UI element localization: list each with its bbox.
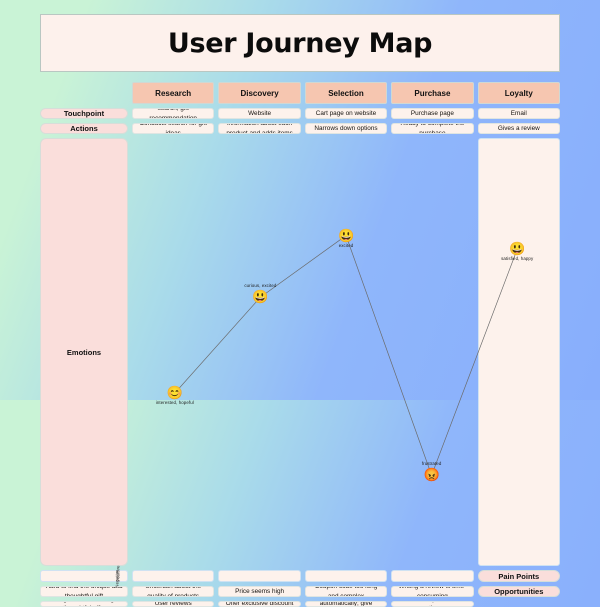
axis-label-negative: Negative <box>114 569 119 587</box>
cell-emotions-research <box>132 570 214 582</box>
column-header-discovery: Discovery <box>218 82 300 104</box>
row-label-emotions: Emotions <box>40 138 128 566</box>
title-panel: User Journey Map <box>40 14 560 72</box>
cell-actions-purchase: Ready to complete the purchase <box>391 123 473 134</box>
emotion-marker-angry-face: 😡 <box>424 467 440 483</box>
cell-opportunities-purchase: Apply coupon automatically; give instant… <box>305 601 387 607</box>
emotion-label-discovery: curious, excited <box>244 283 276 288</box>
emotion-marker-smiling-face: 😊 <box>167 385 183 401</box>
cell-actions-research: Conducts search for gift ideas <box>132 123 214 134</box>
cell-pain-points-loyalty: Writing a review is time-consuming <box>391 586 473 597</box>
journey-map-grid: Research Discovery Selection Purchase Lo… <box>40 82 560 387</box>
column-header-research: Research <box>132 82 214 104</box>
emotion-label-selection: excited <box>339 243 354 248</box>
page-title: User Journey Map <box>168 28 432 59</box>
column-header-selection: Selection <box>305 82 387 104</box>
cell-opportunities-loyalty: Give multiple choice options <box>391 601 473 607</box>
column-header-purchase: Purchase <box>391 82 473 104</box>
emotion-label-research: interested, hopeful <box>156 400 194 405</box>
cell-actions-loyalty: Gives a review <box>478 123 560 134</box>
cell-actions-selection: Narrows down options <box>305 123 387 134</box>
grid-corner-spacer <box>40 82 128 104</box>
cell-pain-points-discovery: Uncertain about the quality of products <box>132 586 214 597</box>
cell-touchpoint-discovery: Website <box>218 108 300 119</box>
cell-touchpoint-purchase: Purchase page <box>391 108 473 119</box>
cell-emotions-purchase <box>391 570 473 582</box>
cell-opportunities-research: Blogs recommending thoughtful gifts <box>40 601 128 607</box>
cell-opportunities-discovery: User reviews <box>132 601 214 607</box>
cell-emotions-selection <box>305 570 387 582</box>
row-label-touchpoint: Touchpoint <box>40 108 128 119</box>
cell-touchpoint-loyalty: Email <box>478 108 560 119</box>
cell-pain-points-selection: Price seems high <box>218 586 300 597</box>
emotion-marker-grinning-face-big-eyes: 😃 <box>252 289 268 305</box>
row-label-opportunities: Opportunities <box>478 586 560 597</box>
cell-pain-points-research: Hard to find the unique and thoughtful g… <box>40 586 128 597</box>
emotion-label-purchase: frustrated <box>422 461 442 466</box>
column-header-loyalty: Loyalty <box>478 82 560 104</box>
row-label-actions: Actions <box>40 123 128 134</box>
journey-map-canvas: User Journey Map Research Discovery Sele… <box>0 0 600 400</box>
cell-emotions-loyalty <box>478 138 560 566</box>
emotion-axis: Positive Negative <box>40 570 128 582</box>
cell-pain-points-purchase: Coupon code too long and complex <box>305 586 387 597</box>
cell-touchpoint-selection: Cart page on website <box>305 108 387 119</box>
emotion-marker-grinning-face-big-eyes: 😃 <box>338 228 354 244</box>
cell-opportunities-selection: Offer exclusive discount <box>218 601 300 607</box>
row-label-pain-points: Pain Points <box>478 570 560 582</box>
cell-emotions-discovery <box>218 570 300 582</box>
cell-actions-discovery: Gathers more information about each prod… <box>218 123 300 134</box>
cell-touchpoint-research: Social media, Google search, gift recomm… <box>132 108 214 119</box>
